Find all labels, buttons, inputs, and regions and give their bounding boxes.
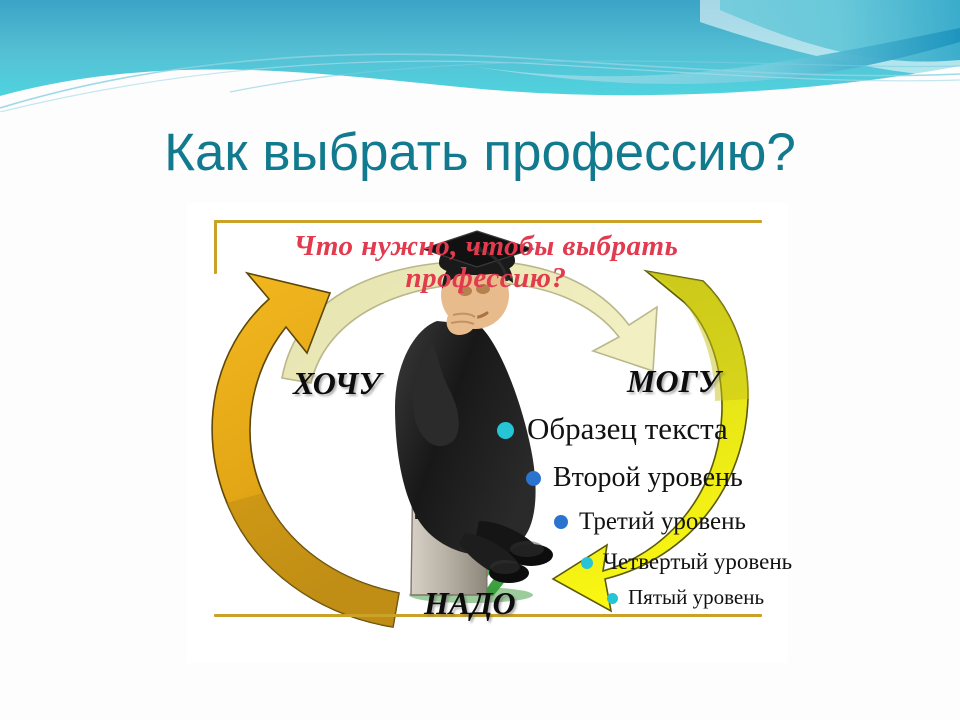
placeholder-level-2-label: Второй уровень (553, 460, 743, 496)
placeholder-level-1[interactable]: Образец текста (497, 409, 917, 449)
slide-canvas: Как выбрать профессию? (0, 0, 960, 720)
content-card: MILE (187, 203, 788, 663)
placeholder-level-5[interactable]: Пятый уровень (607, 584, 917, 611)
clipart-heading-line-1: Что нужно, чтобы выбрать (231, 229, 741, 263)
clipart-rule-top (214, 220, 762, 223)
placeholder-level-4-label: Четвертый уровень (603, 547, 792, 576)
clipart-heading-line-2: профессию? (231, 261, 741, 295)
bullet-icon (581, 557, 593, 569)
bullet-icon (526, 471, 541, 486)
content-placeholder[interactable]: Образец текста Второй уровень Третий уро… (497, 409, 917, 611)
bullet-icon (607, 593, 618, 604)
slide-title: Как выбрать профессию? (0, 122, 960, 184)
header-decoration-band (0, 0, 960, 112)
clipart-label-mogu: МОГУ (627, 363, 720, 400)
bullet-icon (554, 515, 568, 529)
placeholder-level-1-label: Образец текста (527, 409, 728, 449)
placeholder-level-3-label: Третий уровень (579, 506, 746, 538)
placeholder-level-2[interactable]: Второй уровень (526, 460, 917, 496)
placeholder-level-3[interactable]: Третий уровень (554, 506, 917, 538)
clipart-label-hochu: ХОЧУ (293, 365, 381, 402)
clipart-rule-left (214, 220, 217, 274)
placeholder-level-4[interactable]: Четвертый уровень (581, 547, 917, 576)
placeholder-level-5-label: Пятый уровень (628, 584, 764, 611)
bullet-icon (497, 422, 514, 439)
left-arrow (212, 273, 399, 627)
